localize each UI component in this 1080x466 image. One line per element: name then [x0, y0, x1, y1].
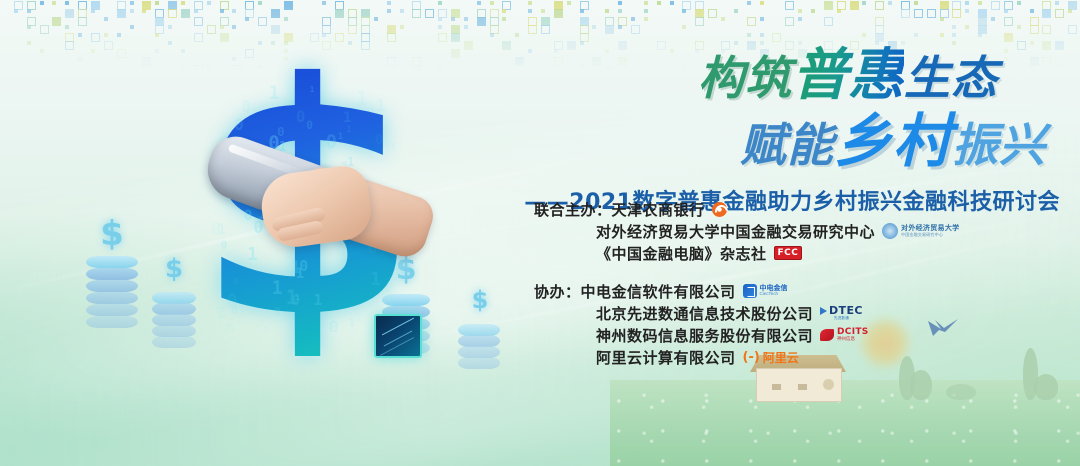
- title-segment-zhenxing: 振兴: [952, 118, 1046, 172]
- dcits-logo: DCITS 神州信息: [820, 328, 869, 342]
- host-name-1: 对外经济贸易大学中国金融交易研究中心: [596, 221, 875, 242]
- uibe-seal-logo: 对外经济贸易大学 中国金融交易研究中心: [882, 223, 959, 239]
- tianjin-rcb-spiral-logo: [712, 202, 727, 217]
- title-line-1: 构筑普惠生态: [500, 48, 1060, 104]
- dcits-swoosh-icon: [820, 329, 834, 341]
- handshake-graphic: [206, 150, 432, 266]
- aliyun-logo: (-) 阿里云: [743, 349, 799, 366]
- cohost-name-1: 北京先进数通信息技术股份公司: [596, 303, 813, 324]
- tree-decoration: [1034, 374, 1058, 400]
- host-name-0: 天津农商银行: [612, 199, 705, 220]
- cohost-row: 协办： 中电金信软件有限公司 中电金信 CiecTech: [534, 280, 964, 302]
- aliyun-logo-text: 阿里云: [763, 349, 799, 366]
- aliyun-bracket-icon: (-): [743, 350, 760, 365]
- dtec-triangle-icon: [820, 307, 827, 315]
- cohost-name-3: 阿里云计算有限公司: [596, 347, 736, 368]
- host-group: 联合主办： 天津农商银行 对外经济贸易大学中国金融交易研究中心 对外经济贸易大学…: [534, 198, 964, 264]
- event-banner: $ $ $ $ $ 011000010101110011100010010110…: [0, 0, 1080, 466]
- host-row: 《中国金融电脑》杂志社 FCC: [534, 242, 964, 264]
- data-stack-decoration: [458, 324, 500, 382]
- title-segment-shengtai: 生态: [904, 51, 998, 105]
- title-segment-xiangcun: 乡村: [834, 107, 952, 175]
- host-row: 对外经济贸易大学中国金融交易研究中心 对外经济贸易大学 中国金融交易研究中心: [534, 220, 964, 242]
- uibe-seal-icon: [882, 223, 898, 239]
- dollar-symbol-decoration: $: [165, 254, 183, 284]
- ciectech-mark-icon: [743, 284, 757, 298]
- title-line-2: 赋能乡村振兴: [500, 112, 1060, 170]
- cohost-name-0: 中电金信软件有限公司: [581, 281, 736, 302]
- host-row: 联合主办： 天津农商银行: [534, 198, 964, 220]
- dtec-logo-sub: 先进数通: [834, 317, 849, 321]
- dtec-logo-main: DTEC: [829, 305, 863, 316]
- host-name-2: 《中国金融电脑》杂志社: [596, 243, 767, 264]
- cohost-row: 北京先进数通信息技术股份公司 DTEC 先进数通: [534, 302, 964, 324]
- dcits-logo-sub: 神州信息: [837, 337, 869, 342]
- dtec-logo: DTEC 先进数通: [820, 305, 863, 321]
- cohost-group: 协办： 中电金信软件有限公司 中电金信 CiecTech 北京先进数通信息技术股…: [534, 280, 964, 368]
- dollar-handshake-illustration: $ $ $ $ $ 011000010101110011100010010110…: [86, 46, 506, 376]
- cohost-row: 神州数码信息服务股份有限公司 DCITS 神州信息: [534, 324, 964, 346]
- dollar-symbol-decoration: $: [100, 214, 124, 254]
- dollar-symbol-decoration: $: [472, 286, 489, 314]
- title-segment-funeng: 赋能: [740, 118, 834, 172]
- cohost-name-2: 神州数码信息服务股份有限公司: [596, 325, 813, 346]
- title-segment-gouzhu: 构筑: [698, 51, 792, 105]
- credits-block: 联合主办： 天津农商银行 对外经济贸易大学中国金融交易研究中心 对外经济贸易大学…: [534, 198, 964, 384]
- cohost-row: 阿里云计算有限公司 (-) 阿里云: [534, 346, 964, 368]
- ciectech-logo: 中电金信 CiecTech: [743, 284, 788, 298]
- title-segment-puhui: 普惠: [792, 43, 904, 108]
- host-label: 联合主办：: [534, 199, 612, 220]
- title-block: 构筑普惠生态 赋能乡村振兴 ——2021数字普惠金融助力乡村振兴金融科技研讨会: [500, 48, 1060, 216]
- fcc-logo-text: FCC: [778, 248, 799, 258]
- ciec-logo-sub: CiecTech: [760, 292, 788, 297]
- fcc-logo: FCC: [774, 246, 803, 260]
- cohost-label: 协办：: [534, 281, 581, 302]
- data-stack-decoration: [86, 256, 138, 332]
- uibe-logo-sub: 中国金融交易研究中心: [901, 233, 959, 237]
- tree-decoration: [946, 384, 976, 400]
- data-stack-decoration: [152, 292, 196, 356]
